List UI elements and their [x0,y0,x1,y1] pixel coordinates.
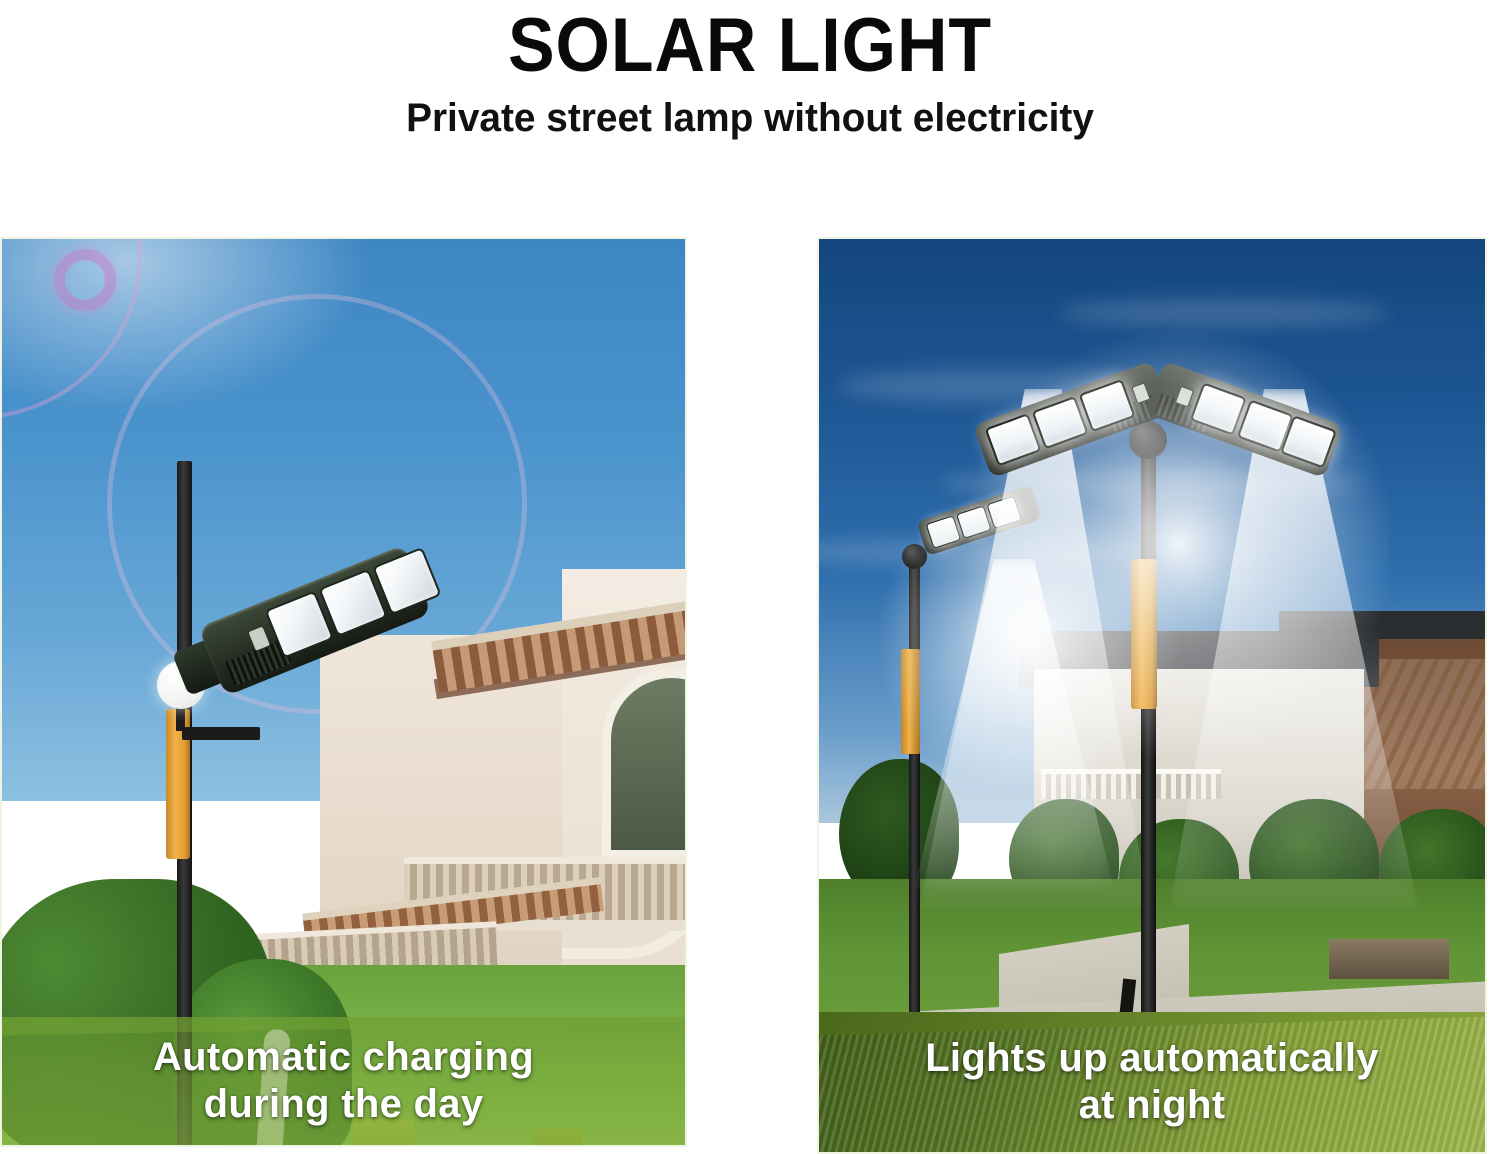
caption-line-1: Lights up automatically [925,1035,1379,1082]
caption-text-daytime: Automatic charging during the day [143,1034,544,1128]
cloud [1059,299,1389,327]
house-balcony-rail [1041,769,1221,799]
page-subtitle: Private street lamp without electricity [23,94,1478,142]
scene-nighttime: Lights up automatically at night [819,239,1485,1152]
lamp-arm [182,727,260,740]
header: SOLAR LIGHT Private street lamp without … [0,0,1500,142]
product-marketing-page: SOLAR LIGHT Private street lamp without … [0,0,1500,1154]
main-lamp-pole [1141,439,1156,1099]
scene-daytime: Automatic charging during the day [2,239,685,1145]
secondary-pole-orange-band [901,649,920,754]
caption-overlay-nighttime: Lights up automatically at night [819,1012,1485,1152]
park-bench [1329,939,1449,979]
secondary-lamp-ball-joint [902,544,927,569]
caption-line-2: during the day [153,1081,534,1128]
panel-nighttime: Lights up automatically at night [817,237,1487,1154]
caption-line-1: Automatic charging [153,1034,534,1081]
page-title: SOLAR LIGHT [60,0,1440,88]
caption-overlay-daytime: Automatic charging during the day [2,1017,685,1145]
villa-arch-window [602,669,685,859]
panel-daytime: Automatic charging during the day [0,237,687,1147]
main-lamp-ball-joint [1129,421,1167,459]
lens-flare-ring-icon [54,249,116,311]
secondary-lamp-pole [909,559,920,1059]
caption-line-2: at night [925,1082,1379,1129]
caption-text-nighttime: Lights up automatically at night [915,1035,1389,1129]
main-pole-orange-band [1131,559,1157,709]
